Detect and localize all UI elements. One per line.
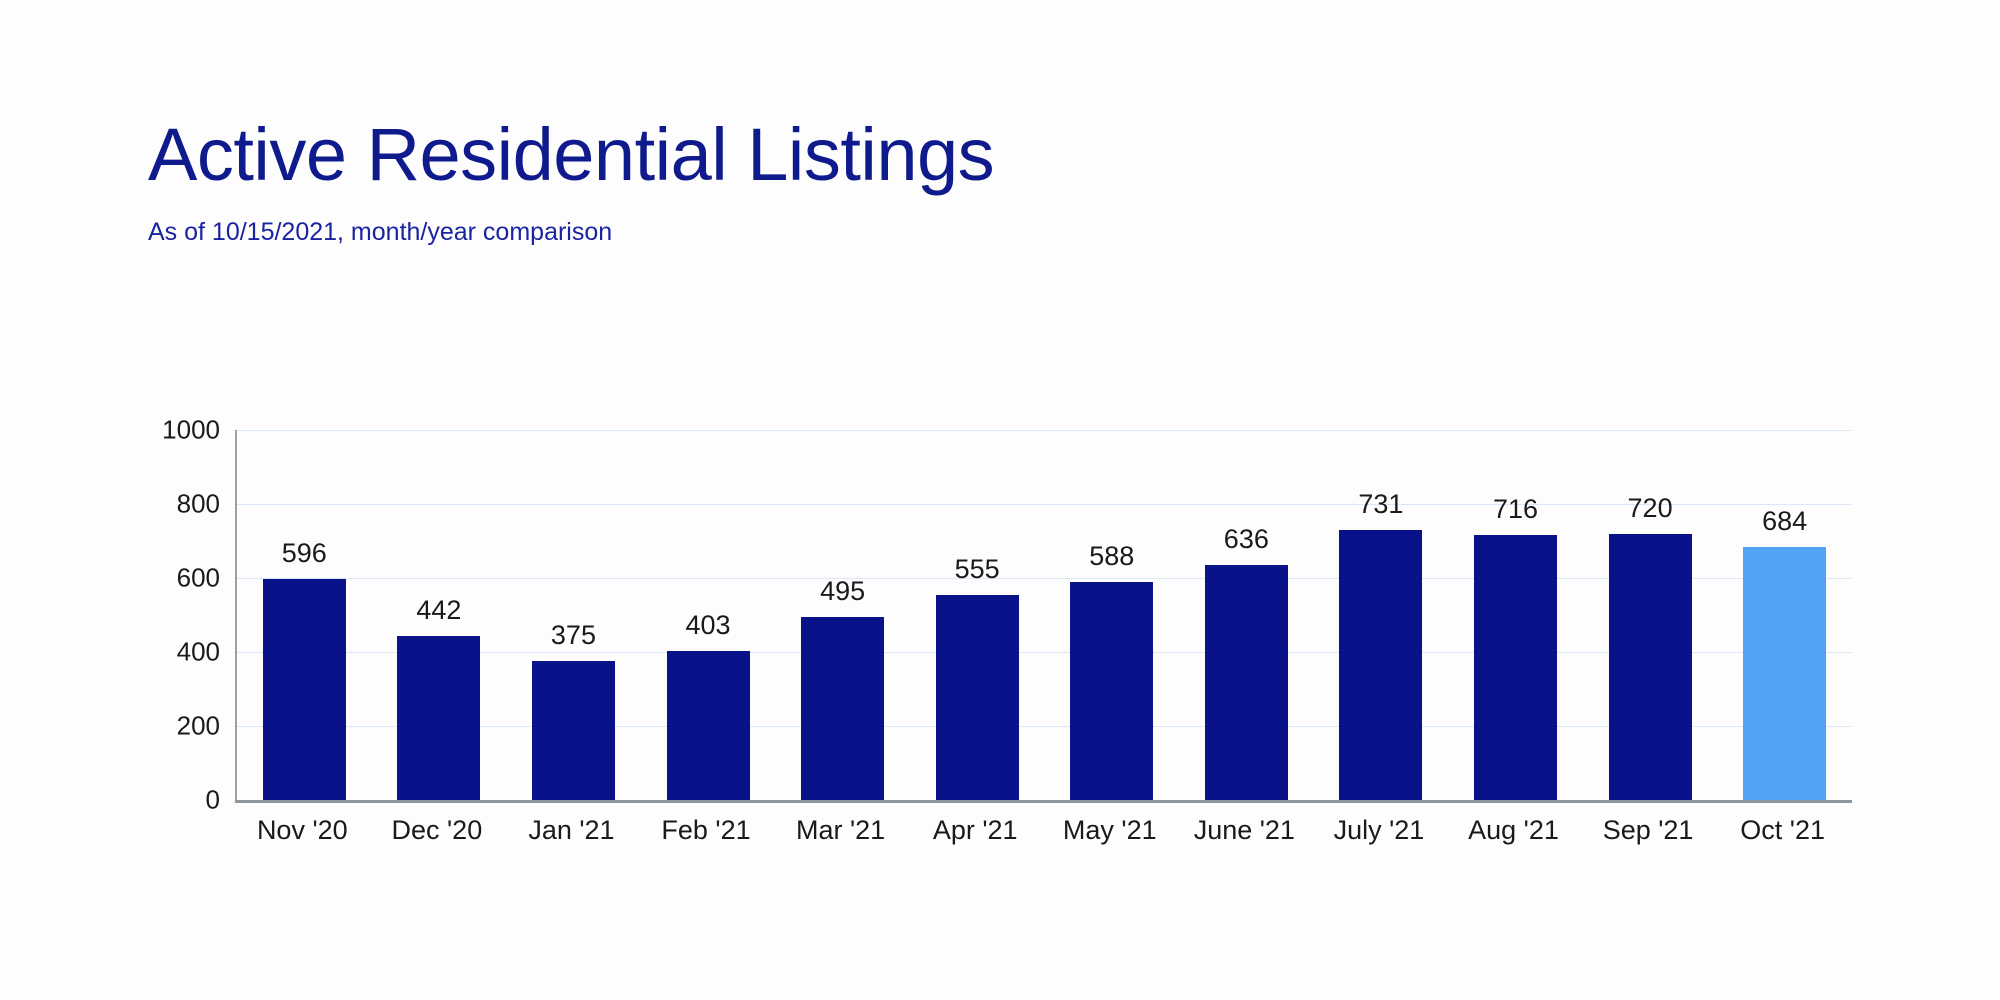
bar-value-label: 720 bbox=[1628, 493, 1673, 524]
y-tick-label: 600 bbox=[177, 563, 220, 594]
bar-value-label: 495 bbox=[820, 576, 865, 607]
bar[interactable] bbox=[532, 661, 615, 800]
y-tick-label: 0 bbox=[206, 785, 220, 816]
bar-value-label: 375 bbox=[551, 620, 596, 651]
bar-chart: 02004006008001000 5964423754034955555886… bbox=[0, 430, 2000, 880]
x-tick-label: May '21 bbox=[1042, 815, 1177, 846]
plot-area: 596442375403495555588636731716720684 bbox=[235, 430, 1852, 803]
bar-slot: 403 bbox=[641, 430, 776, 800]
bar-slot: 720 bbox=[1583, 430, 1718, 800]
bar-value-label: 596 bbox=[282, 538, 327, 569]
bar[interactable] bbox=[397, 636, 480, 800]
x-tick-label: Mar '21 bbox=[773, 815, 908, 846]
bar-slot: 684 bbox=[1717, 430, 1852, 800]
bar[interactable] bbox=[1205, 565, 1288, 800]
chart-header: Active Residential Listings As of 10/15/… bbox=[148, 118, 1848, 247]
bar-slot: 375 bbox=[506, 430, 641, 800]
bar-slot: 495 bbox=[775, 430, 910, 800]
x-tick-label: July '21 bbox=[1312, 815, 1447, 846]
y-tick-label: 200 bbox=[177, 711, 220, 742]
y-tick-label: 1000 bbox=[162, 415, 220, 446]
bar-slot: 731 bbox=[1314, 430, 1449, 800]
chart-subtitle: As of 10/15/2021, month/year comparison bbox=[148, 192, 1848, 247]
bar[interactable] bbox=[263, 579, 346, 800]
y-tick-label: 400 bbox=[177, 637, 220, 668]
bar[interactable] bbox=[1339, 530, 1422, 800]
bar-value-label: 588 bbox=[1089, 541, 1134, 572]
x-tick-label: Dec '20 bbox=[370, 815, 505, 846]
bar-slot: 442 bbox=[372, 430, 507, 800]
bar[interactable] bbox=[1743, 547, 1826, 800]
bar[interactable] bbox=[801, 617, 884, 800]
x-tick-label: Apr '21 bbox=[908, 815, 1043, 846]
bar-slot: 716 bbox=[1448, 430, 1583, 800]
x-tick-label: June '21 bbox=[1177, 815, 1312, 846]
bar-value-label: 403 bbox=[685, 610, 730, 641]
x-tick-label: Oct '21 bbox=[1715, 815, 1850, 846]
x-tick-label: Feb '21 bbox=[639, 815, 774, 846]
x-tick-label: Sep '21 bbox=[1581, 815, 1716, 846]
bar-value-label: 442 bbox=[416, 595, 461, 626]
bar-slot: 588 bbox=[1044, 430, 1179, 800]
page-title: Active Residential Listings bbox=[148, 118, 1848, 192]
x-tick-label: Nov '20 bbox=[235, 815, 370, 846]
bar[interactable] bbox=[1609, 534, 1692, 800]
x-tick-label: Jan '21 bbox=[504, 815, 639, 846]
bar-value-label: 716 bbox=[1493, 494, 1538, 525]
bar-slot: 555 bbox=[910, 430, 1045, 800]
bar-slot: 596 bbox=[237, 430, 372, 800]
bar-value-label: 684 bbox=[1762, 506, 1807, 537]
x-axis: Nov '20Dec '20Jan '21Feb '21Mar '21Apr '… bbox=[235, 815, 1850, 846]
y-tick-label: 800 bbox=[177, 489, 220, 520]
bar-value-label: 636 bbox=[1224, 524, 1269, 555]
bar[interactable] bbox=[667, 651, 750, 800]
bar-value-label: 555 bbox=[955, 554, 1000, 585]
x-tick-label: Aug '21 bbox=[1446, 815, 1581, 846]
bar[interactable] bbox=[1070, 582, 1153, 800]
bar-value-label: 731 bbox=[1358, 489, 1403, 520]
y-axis: 02004006008001000 bbox=[130, 430, 220, 800]
bars-layer: 596442375403495555588636731716720684 bbox=[237, 430, 1852, 800]
bar[interactable] bbox=[1474, 535, 1557, 800]
bar-slot: 636 bbox=[1179, 430, 1314, 800]
bar[interactable] bbox=[936, 595, 1019, 800]
